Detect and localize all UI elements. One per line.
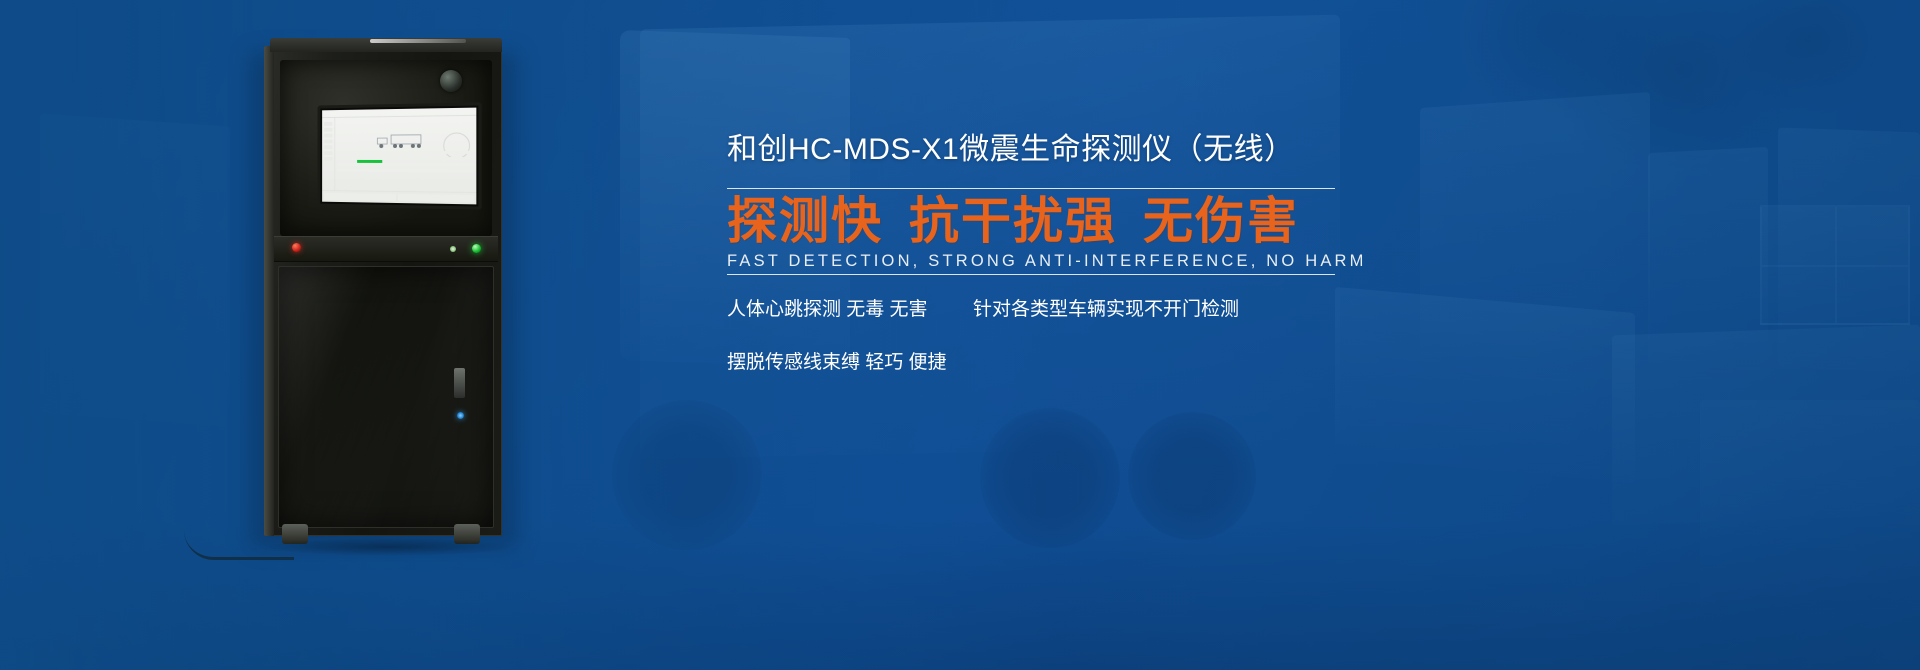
screen-data-rows: [337, 151, 474, 176]
power-cable: [184, 530, 294, 560]
cabinet-touchscreen: [317, 102, 481, 209]
status-led-small-icon: [450, 246, 456, 252]
slogan-part-2: 抗干扰强: [909, 193, 1117, 249]
slogan-part-1: 探测快: [727, 193, 883, 249]
screen-sidebar: [322, 118, 335, 190]
divider-bottom: [727, 274, 1335, 275]
screen-main: [322, 116, 476, 192]
slogan-headline: 探测快抗干扰强无伤害: [727, 194, 1299, 249]
banner-text-block: 和创HC-MDS-X1微震生命探测仪（无线） 探测快抗干扰强无伤害 FAST D…: [727, 0, 1347, 670]
cabinet-divider-panel: [274, 236, 498, 262]
screen-footer-buttons: [322, 190, 476, 204]
camera-lens-icon: [440, 70, 462, 92]
status-led-icon: [472, 244, 481, 253]
feature-row: 摆脱传感线束缚 轻巧 便捷: [727, 353, 1347, 372]
cabinet-top-highlight: [370, 39, 466, 43]
feature-list: 人体心跳探测 无毒 无害 针对各类型车辆实现不开门检测 摆脱传感线束缚 轻巧 便…: [727, 300, 1347, 406]
feature-row: 人体心跳探测 无毒 无害 针对各类型车辆实现不开门检测: [727, 300, 1347, 319]
screen-content: [335, 116, 476, 192]
door-handle: [454, 368, 465, 398]
lock-led-icon: [457, 412, 464, 419]
truck-diagram-icon: [373, 133, 426, 149]
feature-text-right: 针对各类型车辆实现不开门检测: [973, 300, 1239, 319]
screen-ui: [322, 108, 476, 205]
product-photo: [264, 38, 504, 538]
product-banner: 和创HC-MDS-X1微震生命探测仪（无线） 探测快抗干扰强无伤害 FAST D…: [0, 0, 1920, 670]
power-led-icon: [292, 243, 301, 252]
slogan-part-3: 无伤害: [1143, 193, 1299, 249]
product-title: 和创HC-MDS-X1微震生命探测仪（无线）: [727, 124, 1295, 168]
feature-text-left: 人体心跳探测 无毒 无害: [727, 300, 973, 319]
cabinet-top: [270, 38, 502, 52]
cabinet-left-edge: [264, 46, 274, 536]
feature-text-left: 摆脱传感线束缚 轻巧 便捷: [727, 353, 973, 372]
cabinet-base-shadow: [264, 538, 514, 556]
divider-top: [727, 188, 1335, 189]
slogan-subtitle-english: FAST DETECTION, STRONG ANTI-INTERFERENCE…: [727, 252, 1367, 271]
